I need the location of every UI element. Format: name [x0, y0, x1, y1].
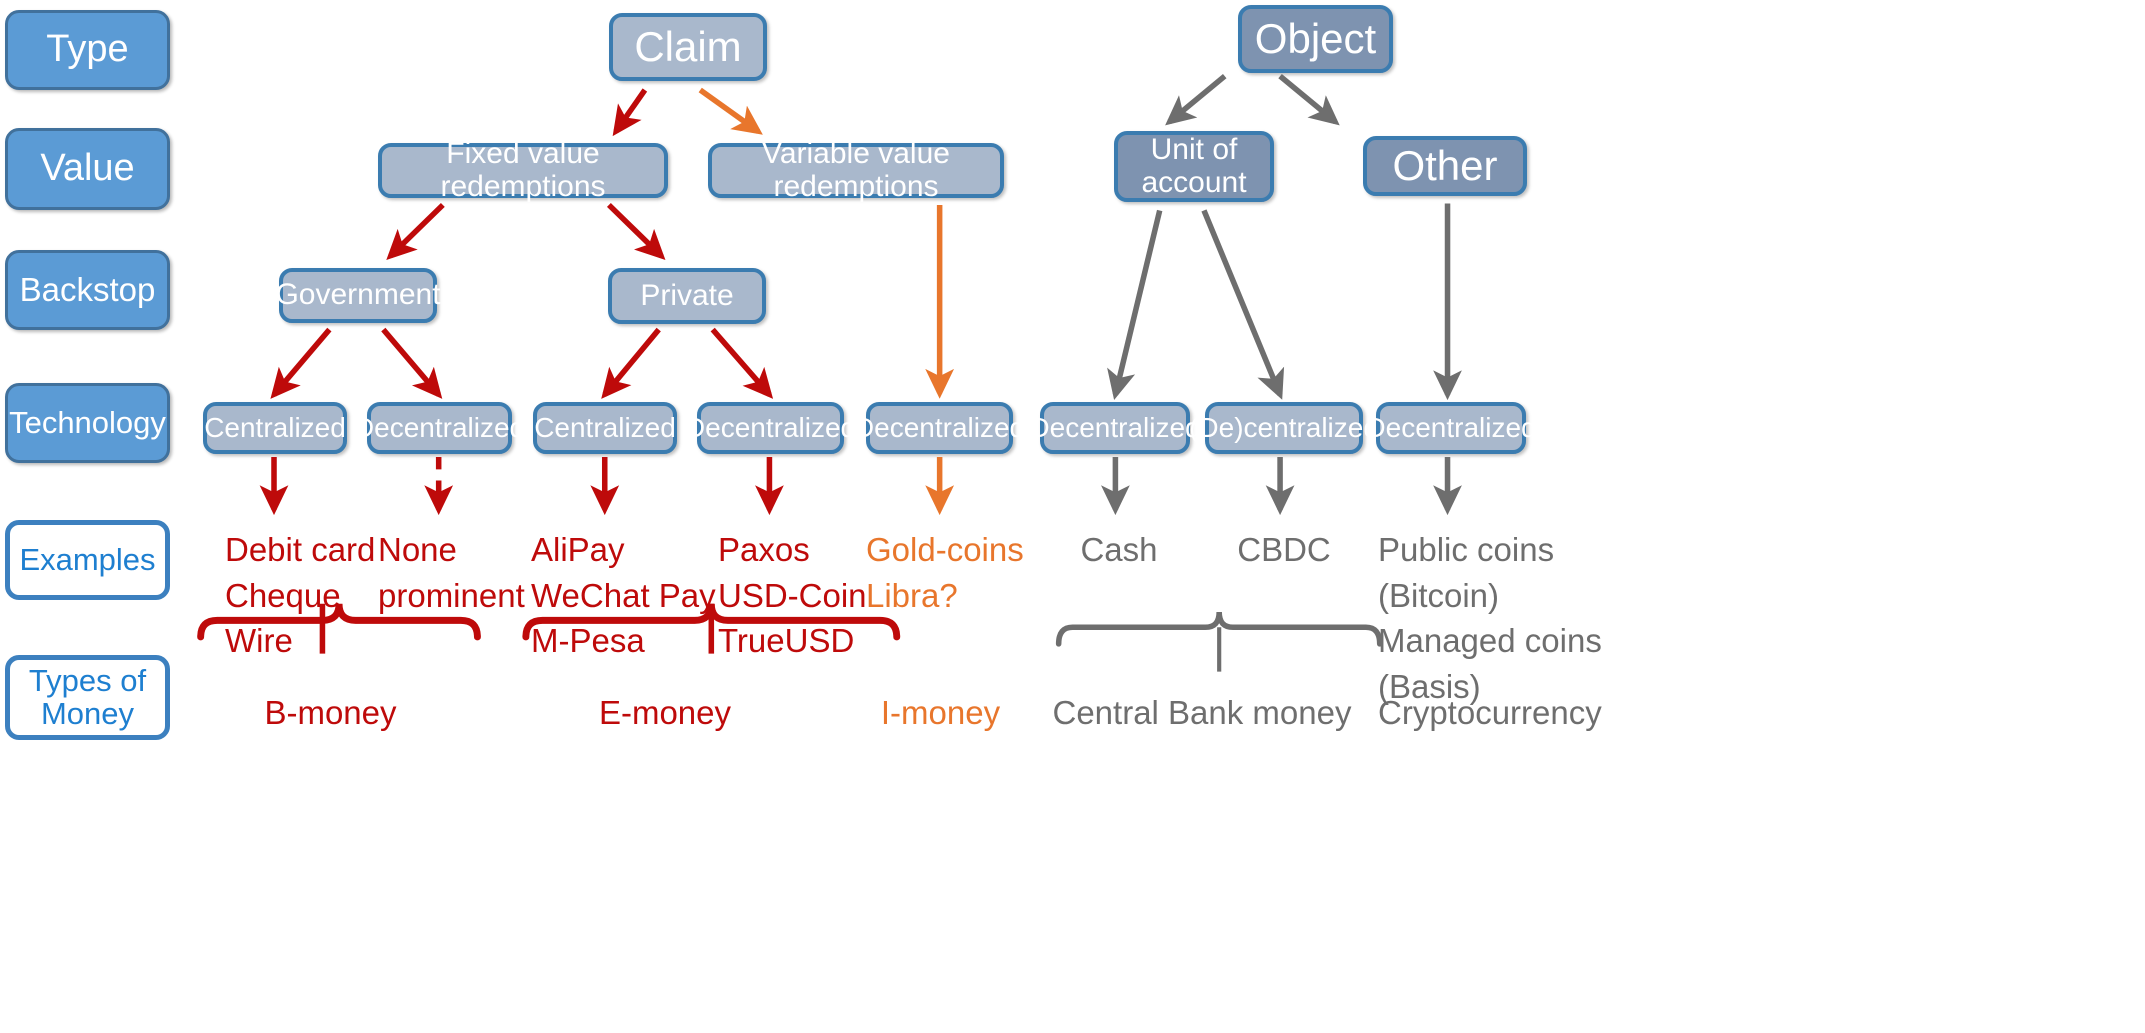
example-cbdc: CBDC [1214, 527, 1354, 573]
node-variable-value-redemptions: Variable value redemptions [708, 143, 1004, 198]
row-label-backstop: Backstop [5, 250, 170, 330]
node-tech-unit-of-account-decentralized: Decentralized [1040, 402, 1190, 454]
row-label-examples: Examples [5, 520, 170, 600]
node-other: Other [1363, 136, 1527, 196]
example-cash: Cash [1049, 527, 1189, 573]
node-government: Government [279, 268, 437, 323]
arrow-government-to-decentralized [383, 330, 438, 395]
example-e-money-centralized: AliPay WeChat Pay M-Pesa [531, 527, 731, 664]
node-tech-other-decentralized: Decentralized [1376, 402, 1526, 454]
brace-central-bank-money [1059, 612, 1380, 644]
row-label-type: Type [5, 10, 170, 90]
arrow-government-to-centralized [274, 330, 329, 395]
node-tech-variable-decentralized: Decentralized [866, 402, 1013, 454]
diagram-canvas: Type Value Backstop Technology Examples … [0, 0, 2145, 1033]
money-type-i-money: I-money [858, 690, 1023, 736]
node-tech-private-decentralized: Decentralized [697, 402, 844, 454]
node-tech-government-centralized: Centralized [203, 402, 347, 454]
arrow-object-to-unit-of-account [1169, 76, 1224, 122]
arrow-fixed-value-to-government [390, 205, 443, 256]
row-label-types-of-money: Types of Money [5, 655, 170, 740]
money-type-e-money: E-money [540, 690, 790, 736]
arrow-unit-of-account-to-decentralized [1115, 210, 1159, 394]
node-unit-of-account: Unit of account [1114, 131, 1274, 202]
arrow-object-to-other [1280, 76, 1335, 122]
node-tech-private-centralized: Centralized [533, 402, 677, 454]
arrow-claim-to-fixed-value [616, 90, 645, 132]
node-tech-government-decentralized: Decentralized [367, 402, 512, 454]
connector-layer [0, 0, 2145, 1033]
arrow-private-to-decentralized [713, 330, 770, 395]
row-label-technology: Technology [5, 383, 170, 463]
money-type-b-money: B-money [228, 690, 433, 736]
example-i-money: Gold-coins Libra? [866, 527, 1046, 618]
row-label-value: Value [5, 128, 170, 210]
example-cryptocurrency: Public coins (Bitcoin) Managed coins (Ba… [1378, 527, 1608, 709]
node-private: Private [608, 268, 766, 324]
example-b-money-centralized: Debit card Cheque Wire [225, 527, 395, 664]
node-fixed-value-redemptions: Fixed value redemptions [378, 143, 668, 198]
arrow-private-to-centralized [605, 330, 659, 395]
arrow-claim-to-variable-value [700, 90, 758, 132]
node-claim: Claim [609, 13, 767, 81]
money-type-cryptocurrency: Cryptocurrency [1378, 690, 1638, 736]
arrow-fixed-value-to-private [609, 205, 662, 256]
arrow-unit-of-account-to-decentralized-alt [1204, 210, 1280, 394]
money-type-central-bank-money: Central Bank money [1042, 690, 1362, 736]
node-tech-unit-of-account-decentralized-alt: (De)centralized [1205, 402, 1363, 454]
node-object: Object [1238, 5, 1393, 73]
